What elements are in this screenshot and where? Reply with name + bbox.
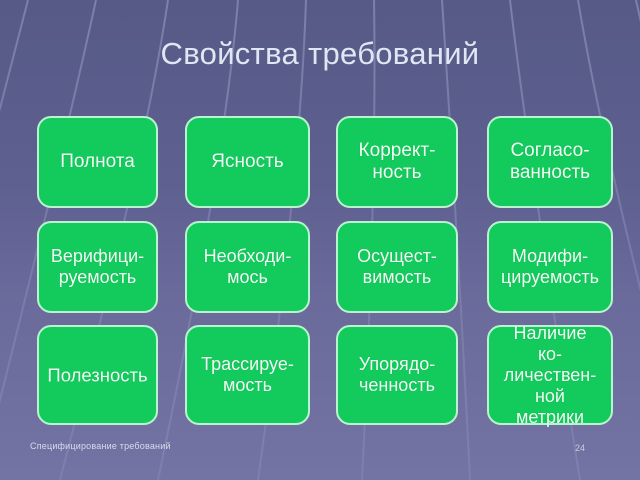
page-number: 24 [575,443,585,453]
property-label: Верифици- руемость [51,246,144,288]
slide: Свойства требований Полнота Ясность Корр… [0,0,640,480]
property-box[interactable]: Коррект- ность [336,116,458,208]
property-box[interactable]: Необходи- мось [185,221,310,313]
footer-text: Специфицирование требований [30,441,171,451]
property-box[interactable]: Наличие ко- личествен- ной метрики [487,325,613,425]
property-box[interactable]: Согласо- ванность [487,116,613,208]
property-label: Осущест- вимость [357,246,437,288]
property-box[interactable]: Модифи- цируемость [487,221,613,313]
property-box[interactable]: Полезность [37,325,158,425]
property-label: Необходи- мось [204,246,292,288]
property-label: Коррект- ность [359,140,436,184]
property-label: Трассируе- мость [201,354,294,396]
property-box[interactable]: Упорядо- ченность [336,325,458,425]
property-box[interactable]: Трассируе- мость [185,325,310,425]
property-label: Упорядо- ченность [359,354,435,396]
property-label: Полезность [47,364,147,385]
property-label: Ясность [211,151,283,173]
property-label: Полнота [60,151,135,173]
properties-grid: Полнота Ясность Коррект- ность Согласо- … [0,0,640,480]
property-box[interactable]: Ясность [185,116,310,208]
property-box[interactable]: Полнота [37,116,158,208]
property-label: Модифи- цируемость [501,246,599,288]
property-label: Наличие ко- личествен- ной метрики [504,323,597,427]
property-box[interactable]: Верифици- руемость [37,221,158,313]
property-box[interactable]: Осущест- вимость [336,221,458,313]
property-label: Согласо- ванность [510,140,590,184]
